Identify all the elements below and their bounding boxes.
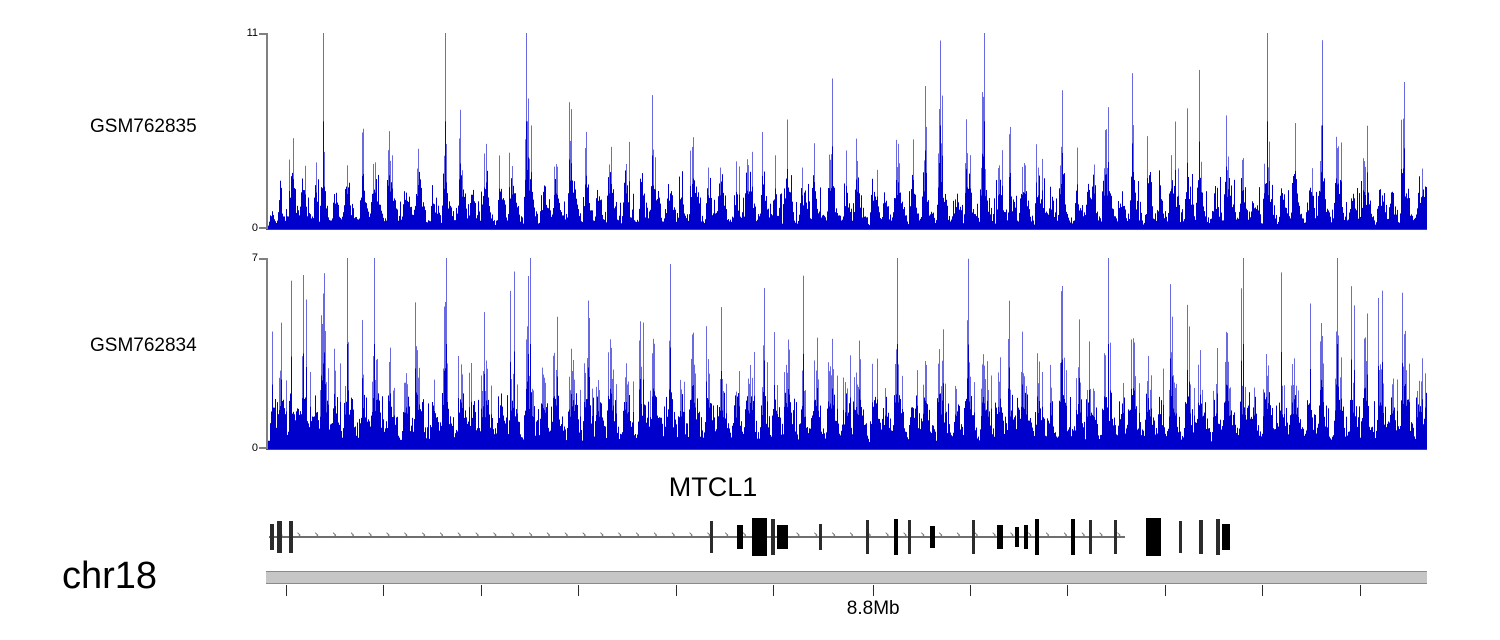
genome-browser: GSM762835 11 0 GSM762834 7 0 MTCL1 ›››››…: [0, 0, 1500, 640]
strand-arrow-icon: ›: [1045, 529, 1054, 543]
strand-arrow-icon: ›: [724, 529, 733, 543]
track-label-gsm762835: GSM762835: [90, 116, 197, 138]
signal-histogram: [268, 33, 1427, 229]
ruler-tick: [1067, 585, 1068, 596]
ruler-coordinate-label: 8.8Mb: [847, 598, 900, 620]
strand-arrow-icon: ›: [385, 529, 394, 543]
exon-block[interactable]: [1222, 524, 1231, 550]
signal-track-gsm762835[interactable]: 11 0: [266, 33, 1427, 229]
coordinate-ruler: 8.8Mb: [266, 585, 1427, 637]
strand-arrow-icon: ›: [1116, 529, 1125, 543]
strand-arrow-icon: ›: [688, 529, 697, 543]
exon-block[interactable]: [866, 520, 869, 554]
ruler-tick: [773, 585, 774, 596]
strand-arrow-icon: ›: [528, 529, 537, 543]
strand-arrow-icon: ›: [653, 529, 662, 543]
strand-arrow-icon: ›: [332, 529, 341, 543]
strand-arrow-icon: ›: [457, 529, 466, 543]
strand-arrow-icon: ›: [920, 529, 929, 543]
strand-arrow-icon: ›: [795, 529, 804, 543]
strand-arrow-icon: ›: [884, 529, 893, 543]
y-axis-tick-max: [259, 258, 268, 260]
exon-block[interactable]: [270, 524, 273, 550]
exon-block[interactable]: [1015, 527, 1019, 547]
strand-arrow-icon: ›: [350, 529, 359, 543]
strand-arrow-icon: ›: [439, 529, 448, 543]
exon-block[interactable]: [737, 525, 743, 549]
y-axis-max-label: 7: [252, 253, 258, 264]
exon-block[interactable]: [771, 519, 774, 555]
y-axis-tick-max: [259, 33, 268, 35]
strand-arrow-icon: ›: [599, 529, 608, 543]
strand-arrow-icon: ›: [938, 529, 947, 543]
strand-arrow-icon: ›: [403, 529, 412, 543]
strand-arrow-icon: ›: [421, 529, 430, 543]
signal-histogram: [268, 258, 1427, 449]
chromosome-ideogram-bar[interactable]: [266, 571, 1427, 584]
exon-block[interactable]: [289, 521, 292, 553]
exon-block[interactable]: [972, 520, 975, 554]
strand-arrow-icon: ›: [1098, 529, 1107, 543]
exon-block[interactable]: [1089, 520, 1092, 554]
strand-arrow-icon: ›: [474, 529, 483, 543]
ruler-tick: [1165, 585, 1166, 596]
exon-block[interactable]: [1024, 525, 1027, 549]
exon-block[interactable]: [752, 518, 767, 556]
signal-track-gsm762834[interactable]: 7 0: [266, 258, 1427, 449]
strand-arrow-icon: ›: [314, 529, 323, 543]
gene-annotation-track[interactable]: MTCL1 ››››››››››››››››››››››››››››››››››…: [266, 508, 1427, 566]
strand-arrow-icon: ›: [671, 529, 680, 543]
exon-block[interactable]: [1146, 518, 1161, 556]
exon-block[interactable]: [777, 525, 788, 549]
strand-arrow-icon: ›: [492, 529, 501, 543]
strand-arrow-icon: ›: [581, 529, 590, 543]
ruler-tick: [873, 585, 874, 596]
exon-block[interactable]: [710, 521, 713, 553]
gene-label-mtcl1[interactable]: MTCL1: [669, 472, 758, 503]
ruler-tick: [383, 585, 384, 596]
strand-arrow-icon: ›: [831, 529, 840, 543]
strand-arrow-icon: ›: [546, 529, 555, 543]
exon-block[interactable]: [930, 526, 935, 548]
strand-arrow-icon: ›: [635, 529, 644, 543]
chromosome-label: chr18: [62, 555, 157, 598]
exon-block[interactable]: [1199, 520, 1202, 554]
track-label-gsm762834: GSM762834: [90, 335, 197, 357]
exon-block[interactable]: [894, 519, 898, 555]
exon-block[interactable]: [1114, 520, 1117, 554]
exon-block[interactable]: [1216, 519, 1220, 555]
signal-baseline: [266, 449, 1427, 450]
strand-arrow-icon: ›: [564, 529, 573, 543]
exon-block[interactable]: [819, 524, 822, 550]
signal-baseline: [266, 229, 1427, 230]
exon-block[interactable]: [997, 525, 1003, 549]
strand-arrow-icon: ›: [510, 529, 519, 543]
ruler-tick: [970, 585, 971, 596]
strand-arrow-icon: ›: [296, 529, 305, 543]
ruler-tick: [578, 585, 579, 596]
exon-block[interactable]: [277, 521, 282, 553]
strand-arrow-icon: ›: [368, 529, 377, 543]
strand-arrow-icon: ›: [617, 529, 626, 543]
strand-arrow-icon: ›: [849, 529, 858, 543]
gene-model[interactable]: ››››››››››››››››››››››››››››››››››››››››…: [266, 508, 1427, 566]
ruler-tick: [676, 585, 677, 596]
y-axis-min-label: 0: [252, 223, 258, 234]
ruler-tick: [286, 585, 287, 596]
ruler-tick: [1360, 585, 1361, 596]
y-axis-min-label: 0: [252, 443, 258, 454]
ruler-tick: [481, 585, 482, 596]
strand-arrow-icon: ›: [956, 529, 965, 543]
ruler-tick: [1262, 585, 1263, 596]
y-axis-max-label: 11: [247, 28, 258, 39]
exon-block[interactable]: [1179, 521, 1182, 553]
exon-block[interactable]: [908, 520, 911, 554]
exon-block[interactable]: [1071, 519, 1075, 555]
exon-block[interactable]: [1035, 519, 1039, 555]
